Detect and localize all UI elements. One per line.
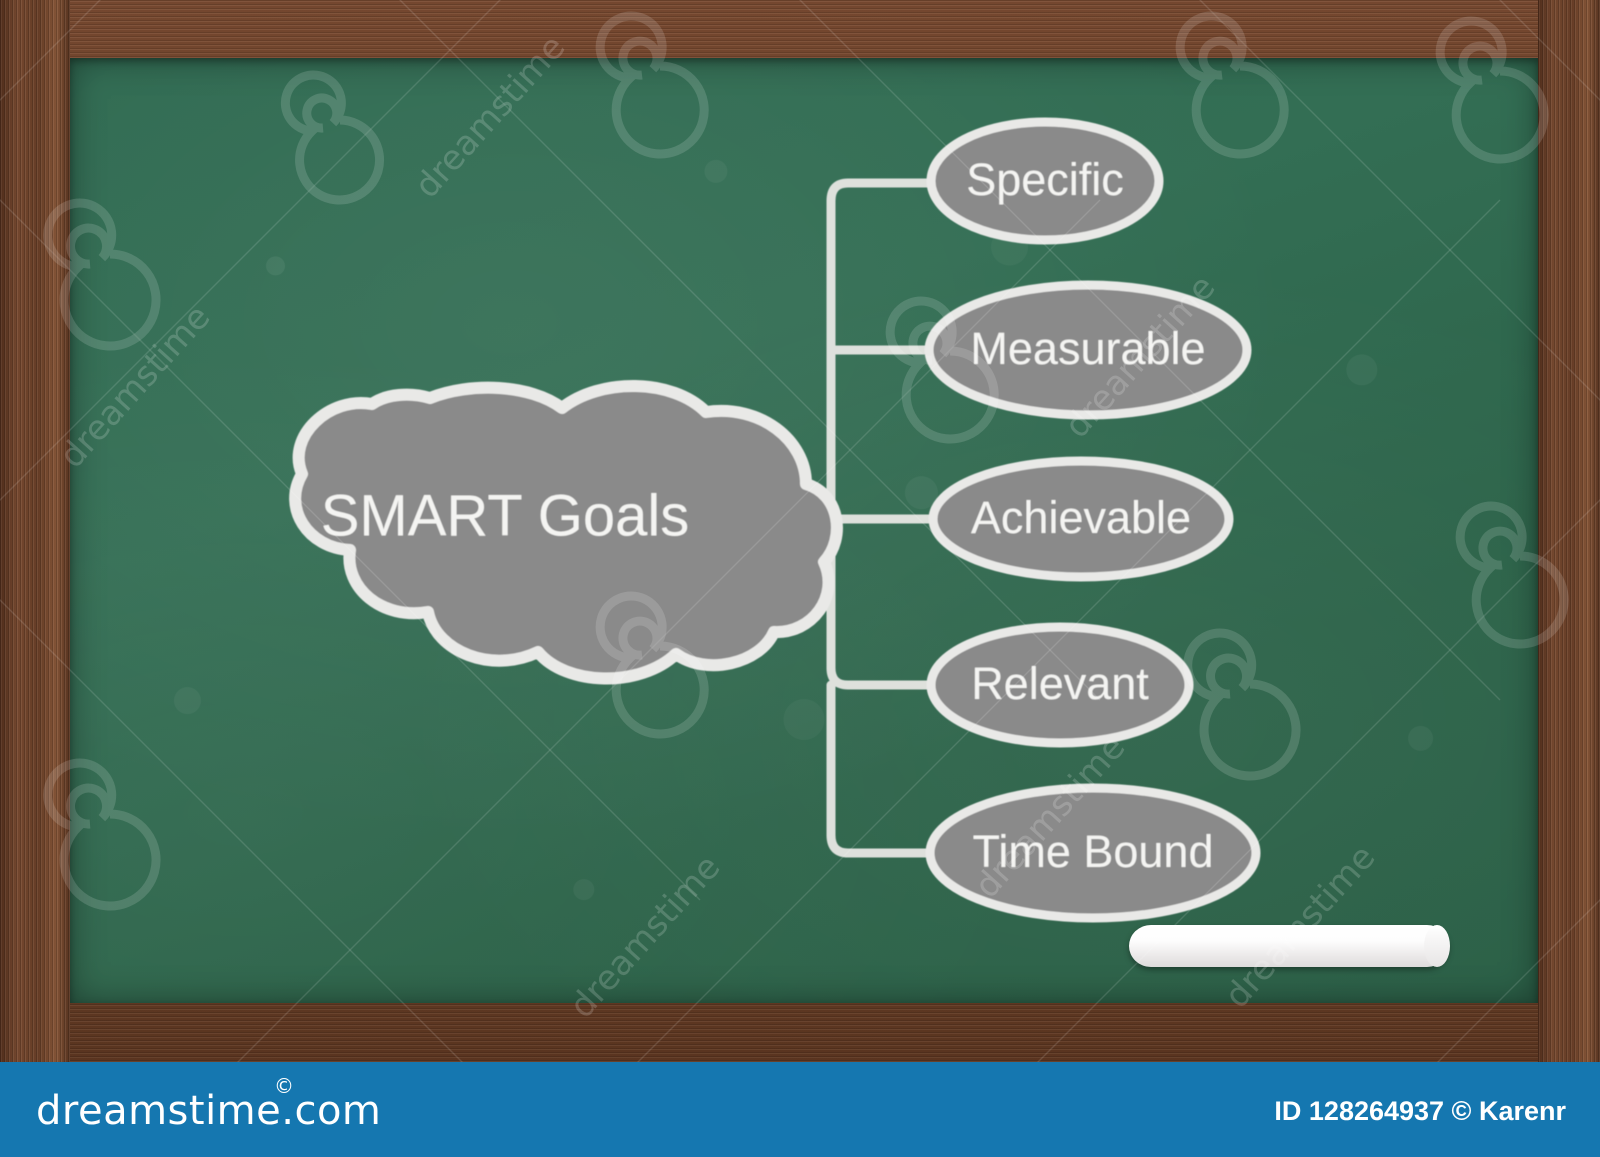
stock-photo-footer: dreamstime.com © ID 128264937 © Karenr: [0, 1062, 1600, 1157]
frame-right-stile: [1538, 0, 1600, 1062]
dreamstime-logo[interactable]: dreamstime.com ©: [36, 1088, 381, 1134]
chalkboard-surface: [70, 58, 1538, 1003]
chalk-stick[interactable]: [1129, 925, 1449, 967]
screenshot-root: SMART Goals Specific Measurable Achievab…: [0, 0, 1600, 1157]
brand-text: dreamstime.com: [36, 1088, 381, 1134]
frame-left-stile: [0, 0, 70, 1062]
registered-mark-icon: ©: [274, 1074, 295, 1098]
image-id-credit: ID 128264937 © Karenr: [1274, 1096, 1566, 1127]
